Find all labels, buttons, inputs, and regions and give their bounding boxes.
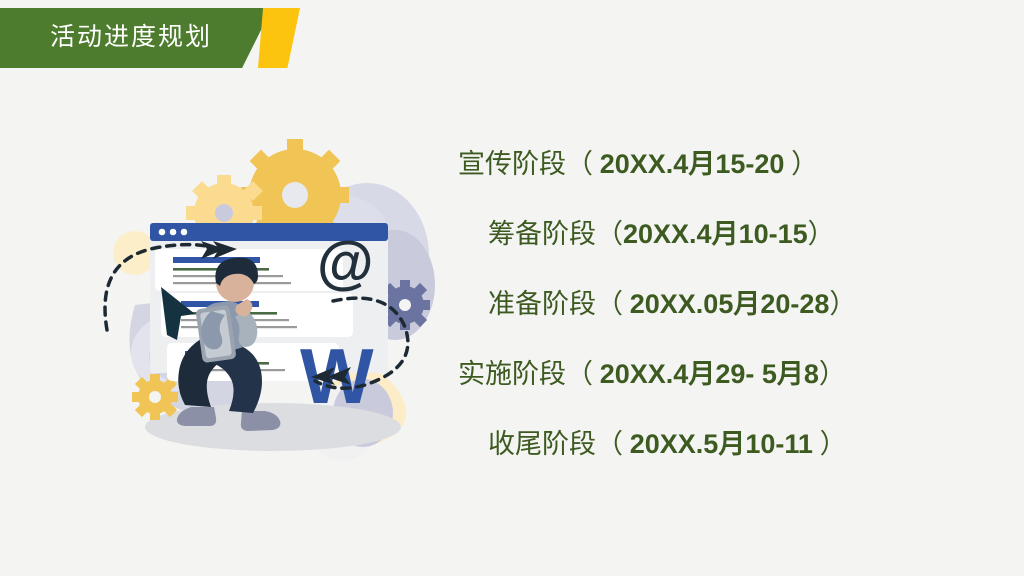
phase-line-1: 宣传阶段（ 20XX.4月15-20 ） xyxy=(430,150,930,180)
phase-suffix-1: ） xyxy=(784,149,818,179)
phase-label-4: 实施阶段（ xyxy=(458,359,600,389)
phase-date-1: 20XX.4月15-20 xyxy=(600,149,785,179)
phase-date-3: 20XX.05月20-28 xyxy=(630,289,830,319)
phase-label-5: 收尾阶段（ xyxy=(488,429,630,459)
phase-label-1: 宣传阶段（ xyxy=(458,149,600,179)
phase-line-3: 准备阶段（ 20XX.05月20-28） xyxy=(430,290,930,320)
banner-yellow-shape xyxy=(258,8,300,68)
phase-list: 宣传阶段（ 20XX.4月15-20 ） 筹备阶段（20XX.4月10-15） … xyxy=(430,150,930,460)
phase-date-5: 20XX.5月10-11 xyxy=(630,429,813,459)
phase-label-3: 准备阶段（ xyxy=(488,289,630,319)
phase-line-2: 筹备阶段（20XX.4月10-15） xyxy=(430,220,930,250)
illustration-graphic: @ W xyxy=(95,135,440,465)
page-title: 活动进度规划 xyxy=(50,8,212,68)
phase-suffix-5: ） xyxy=(813,429,847,459)
phase-suffix-3: ） xyxy=(829,289,856,319)
header-banner: 活动进度规划 xyxy=(0,8,296,68)
phase-label-2: 筹备阶段（ xyxy=(488,219,623,249)
phase-date-2: 20XX.4月10-15 xyxy=(623,219,808,249)
phase-suffix-2: ） xyxy=(808,219,835,249)
slide-canvas: 活动进度规划 xyxy=(0,0,1024,576)
at-symbol: @ xyxy=(317,230,374,295)
phase-suffix-4: ） xyxy=(819,359,846,389)
phase-date-4: 20XX.4月29- 5月8 xyxy=(600,359,819,389)
phase-line-5: 收尾阶段（ 20XX.5月10-11 ） xyxy=(430,430,930,460)
phase-line-4: 实施阶段（ 20XX.4月29- 5月8） xyxy=(430,360,930,390)
